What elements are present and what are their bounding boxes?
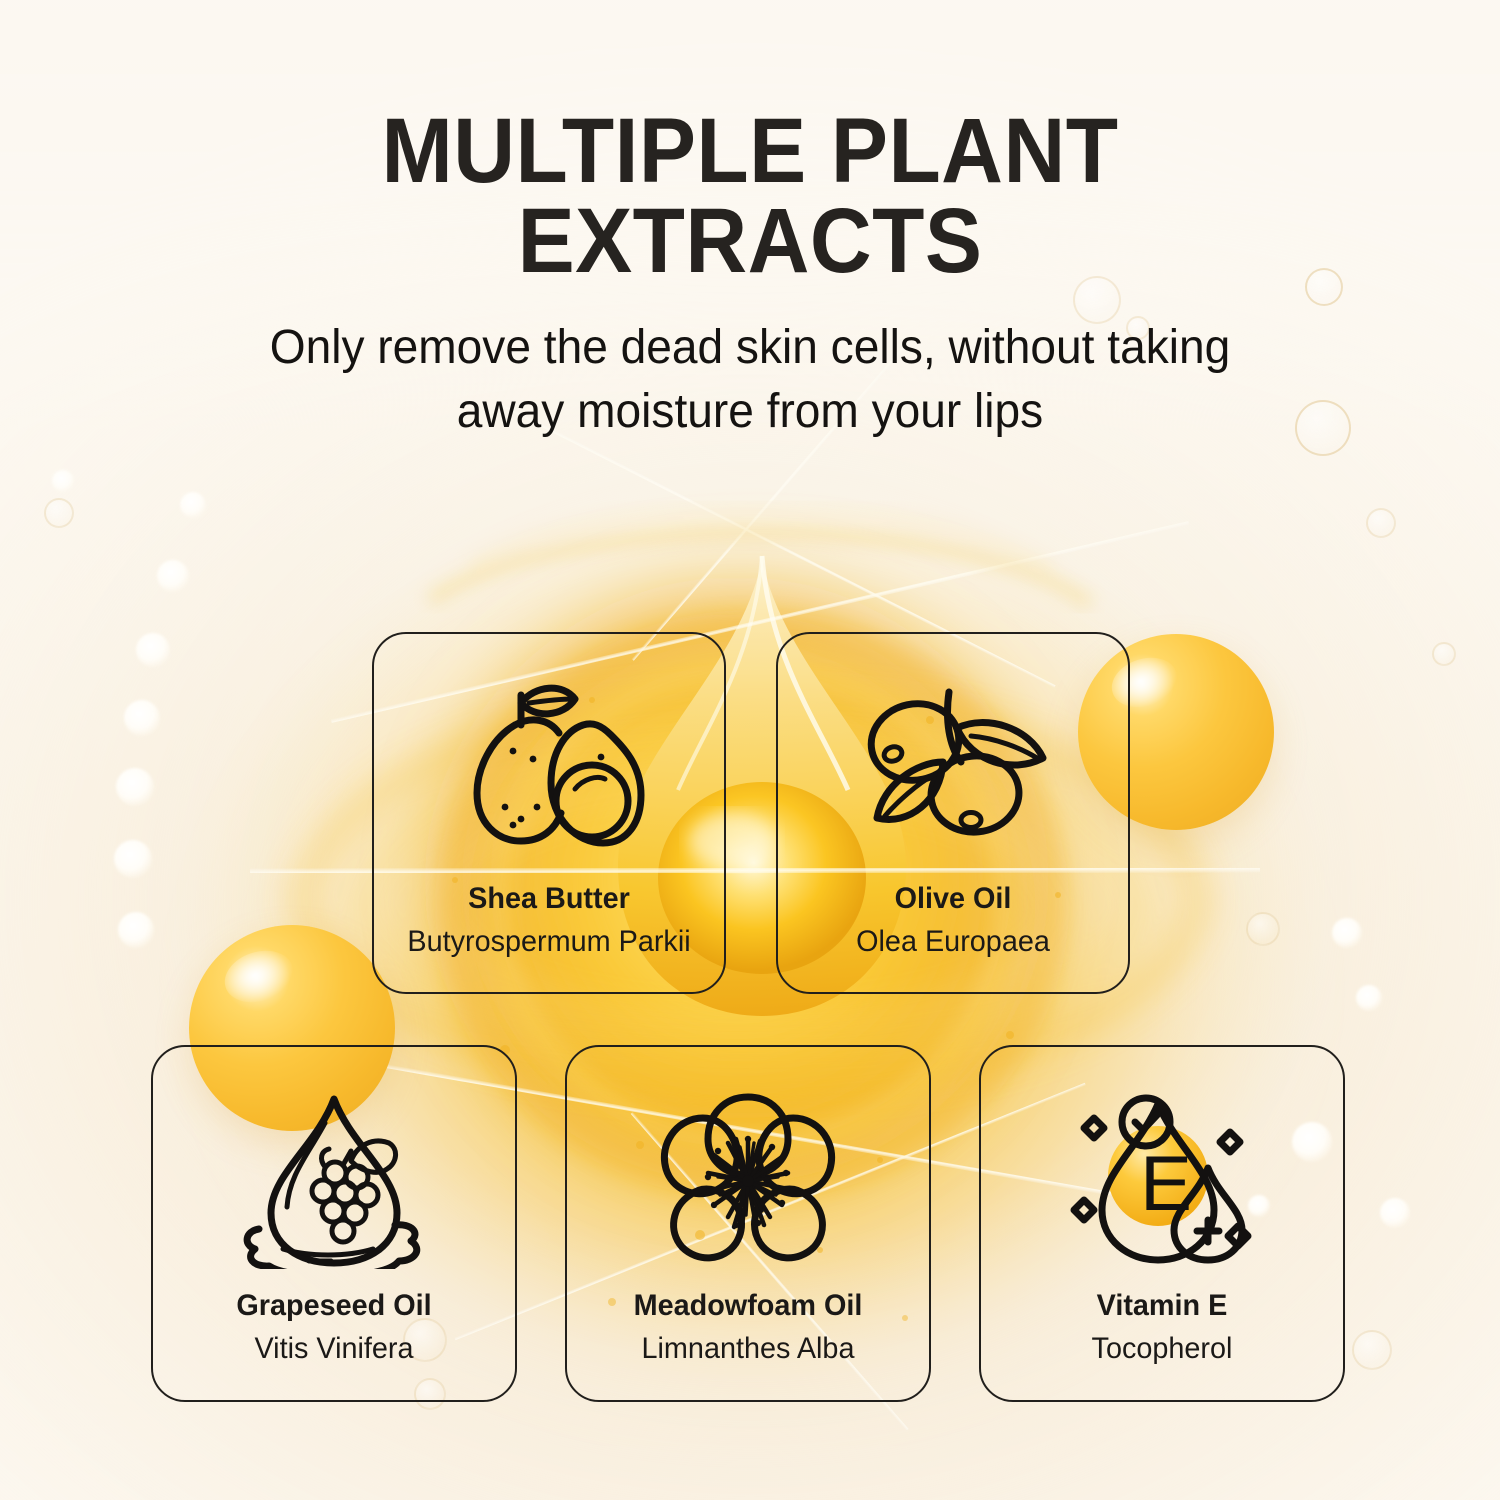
ingredient-label-group: Olive Oil Olea Europaea <box>752 882 1154 960</box>
bokeh-pearl <box>124 700 160 736</box>
ingredient-latin-name: Butyrospermum Parkii <box>356 924 742 960</box>
ingredient-latin-name: Limnanthes Alba <box>549 1331 946 1367</box>
bokeh-pearl <box>1332 918 1362 948</box>
vitamin-e-droplet-icon: E <box>1062 1084 1262 1274</box>
bokeh-pearl <box>114 840 152 878</box>
ingredient-name: Vitamin E <box>963 1289 1360 1324</box>
bokeh-pearl <box>116 768 154 806</box>
ingredient-icon-slot <box>778 668 1128 864</box>
ingredient-icon-slot: E <box>981 1081 1343 1277</box>
ingredient-card-meadowfoam-oil[interactable]: Meadowfoam Oil Limnanthes Alba <box>565 1045 931 1402</box>
bubble-ring <box>1432 642 1456 666</box>
ingredient-card-grapeseed-oil[interactable]: Grapeseed Oil Vitis Vinifera <box>151 1045 517 1402</box>
bokeh-pearl <box>118 912 154 948</box>
bubble-ring <box>1366 508 1396 538</box>
ingredient-label-group: Vitamin E Tocopherol <box>955 1289 1369 1367</box>
ingredient-name: Grapeseed Oil <box>135 1289 532 1324</box>
ingredient-latin-name: Tocopherol <box>963 1331 1360 1367</box>
ingredient-card-olive-oil[interactable]: Olive Oil Olea Europaea <box>776 632 1130 994</box>
bokeh-pearl <box>136 633 170 667</box>
ingredient-icon-slot <box>153 1081 515 1277</box>
ingredient-label-group: Grapeseed Oil Vitis Vinifera <box>127 1289 541 1367</box>
ingredient-icon-slot <box>567 1081 929 1277</box>
ingredient-name: Meadowfoam Oil <box>549 1289 946 1324</box>
infographic-canvas: MULTIPLE PLANT EXTRACTS Only remove the … <box>0 0 1500 1500</box>
pear-avocado-icon <box>451 673 647 859</box>
ingredient-latin-name: Vitis Vinifera <box>135 1331 532 1367</box>
subtitle-line-2: away moisture from your lips <box>179 380 1321 443</box>
ingredient-label-group: Meadowfoam Oil Limnanthes Alba <box>541 1289 955 1367</box>
ingredient-card-shea-butter[interactable]: Shea Butter Butyrospermum Parkii <box>372 632 726 994</box>
title-line-1: MULTIPLE PLANT <box>53 106 1448 196</box>
ingredient-latin-name: Olea Europaea <box>760 924 1146 960</box>
ingredient-name: Olive Oil <box>760 882 1146 917</box>
bokeh-pearl <box>1356 985 1382 1011</box>
ingredient-icon-slot <box>374 668 724 864</box>
page-title: MULTIPLE PLANT EXTRACTS <box>53 106 1448 286</box>
title-line-2: EXTRACTS <box>53 196 1448 286</box>
bubble-ring <box>1246 912 1280 946</box>
vitamin-letter: E <box>1140 1139 1192 1227</box>
ingredient-label-group: Shea Butter Butyrospermum Parkii <box>348 882 750 960</box>
subtitle-line-1: Only remove the dead skin cells, without… <box>179 316 1321 379</box>
bokeh-pearl <box>52 470 74 492</box>
grape-droplet-icon <box>239 1089 429 1269</box>
bubble-ring <box>44 498 74 528</box>
heading-block: MULTIPLE PLANT EXTRACTS Only remove the … <box>0 106 1500 443</box>
bokeh-pearl <box>1380 1198 1410 1228</box>
page-subtitle: Only remove the dead skin cells, without… <box>179 316 1321 443</box>
olive-branch-icon <box>853 680 1053 852</box>
bokeh-pearl <box>180 492 206 518</box>
ingredient-name: Shea Butter <box>356 882 742 917</box>
bokeh-pearl <box>157 560 189 592</box>
ingredient-card-vitamin-e[interactable]: E Vitamin E Tocopherol <box>979 1045 1345 1402</box>
meadowfoam-flower-icon <box>650 1085 846 1273</box>
